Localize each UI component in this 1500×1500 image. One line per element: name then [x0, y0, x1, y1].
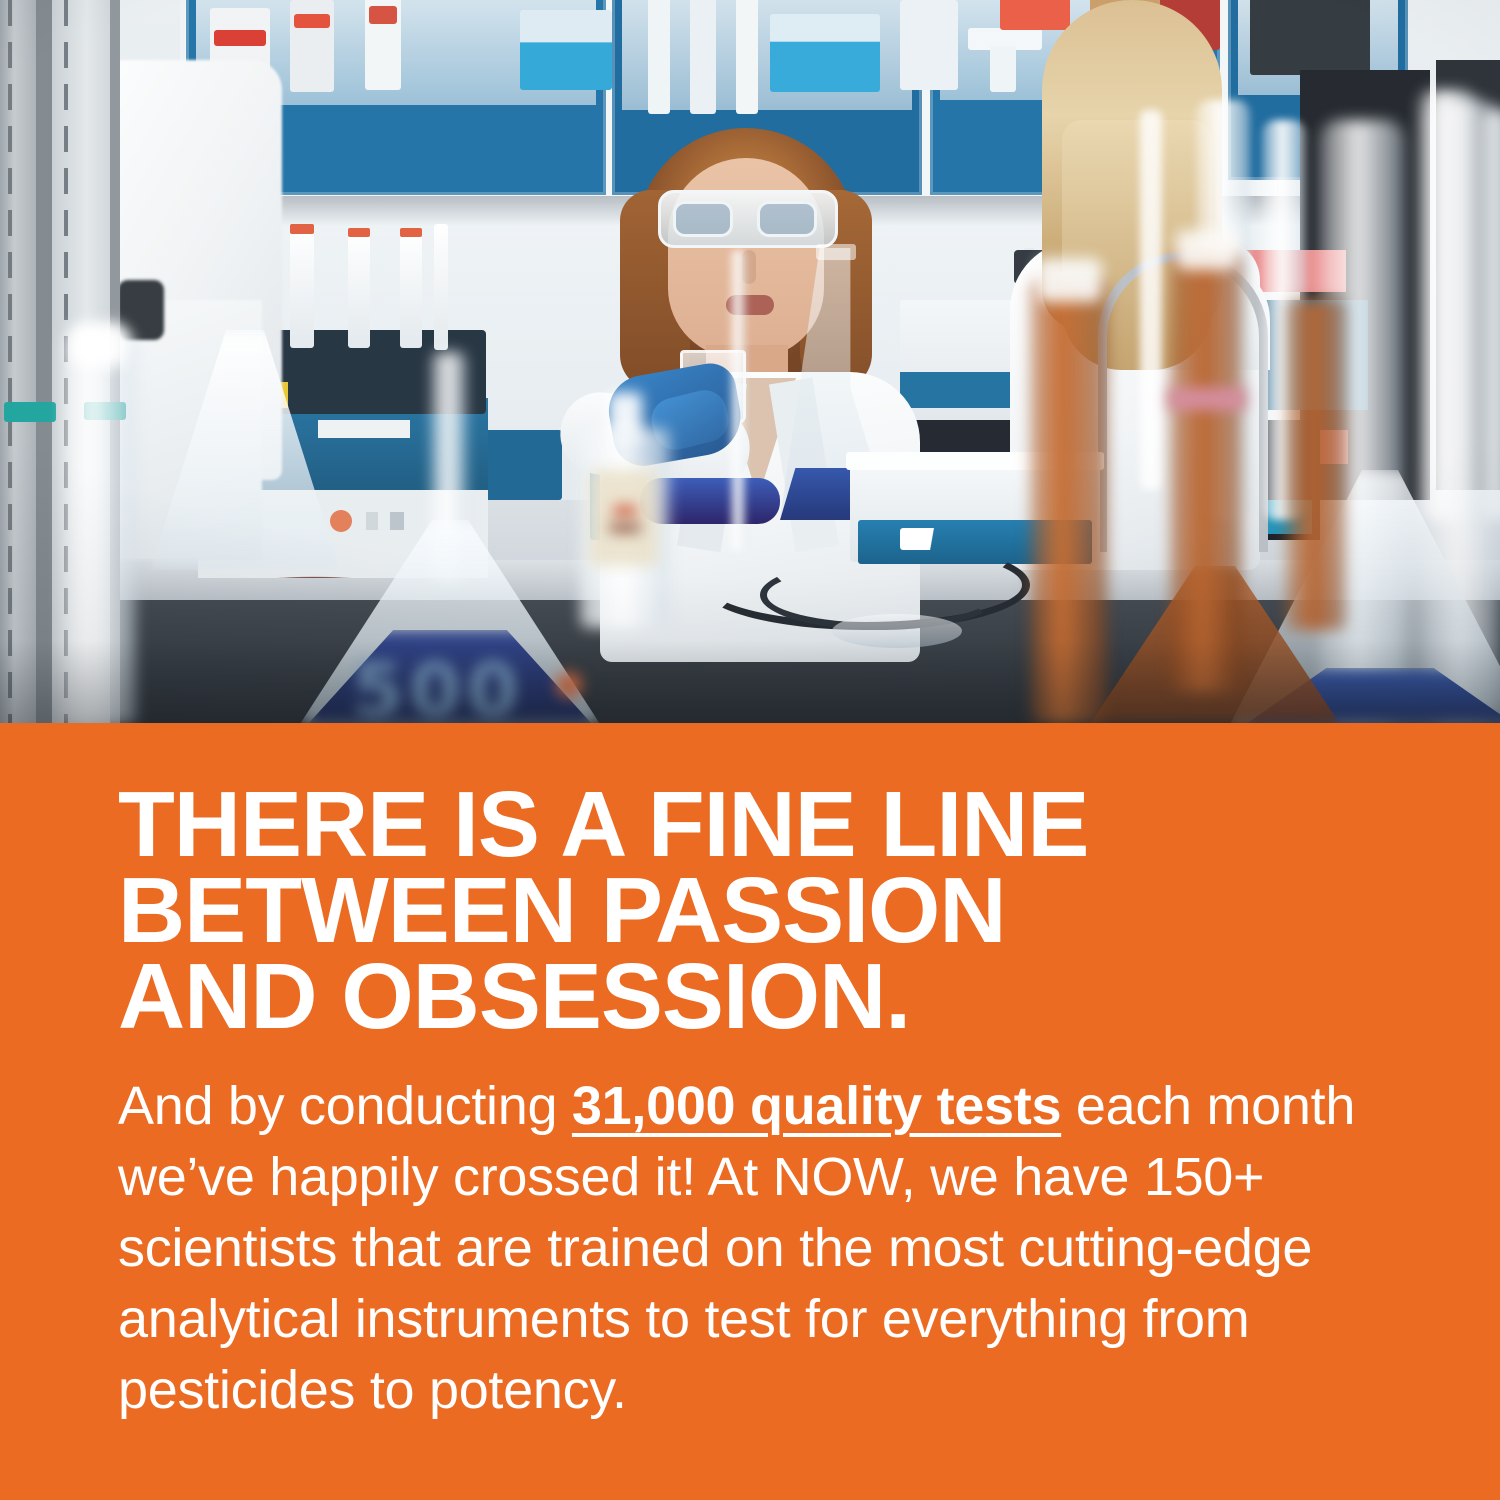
volumetric-flask-marking: 500	[352, 648, 552, 723]
amber-flask-stopper-1	[1036, 258, 1102, 302]
page-title: THERE IS A FINE LINE BETWEEN PASSION AND…	[118, 781, 1398, 1039]
reagent-bottle-neck	[608, 392, 642, 440]
left-instrument-display	[318, 420, 410, 438]
shelf-funnel	[990, 46, 1016, 92]
shelf-container-blue-2	[770, 14, 880, 92]
door-frame-shadow	[36, 0, 52, 723]
door-frame-dashes-1	[8, 0, 12, 723]
glass-rod-white	[1140, 110, 1162, 490]
orange-copy-panel: THERE IS A FINE LINE BETWEEN PASSION AND…	[0, 723, 1500, 1500]
reagent-bottle-warning-2	[610, 524, 640, 532]
safety-goggles-icon	[658, 190, 838, 248]
vial-cap-3	[400, 228, 422, 237]
sample-vial-4	[400, 232, 422, 348]
shelf-tube-1	[648, 0, 670, 114]
shelf-dark-equipment	[1250, 0, 1370, 75]
shelf-container-blue-1	[520, 10, 612, 90]
shelf-bottle-3-label	[369, 6, 397, 24]
goggles-lens-left	[673, 201, 733, 237]
left-instrument-knob-1	[330, 510, 352, 532]
foreground-cylinder-left-cap	[70, 322, 128, 368]
reagent-bottle-warning-1	[614, 506, 636, 516]
foreground-cylinder-left	[62, 330, 136, 723]
shelf-tube-3	[736, 0, 758, 114]
sample-vial-2	[290, 228, 314, 348]
foreground-pipette	[730, 250, 746, 550]
shelf-jar	[900, 0, 958, 90]
body-copy: And by conducting 31,000 quality tests e…	[118, 1071, 1388, 1426]
body-copy-before: And by conducting	[118, 1076, 572, 1136]
left-instrument-knob-3	[390, 512, 404, 530]
vial-cap-1	[290, 224, 314, 234]
lab-hero-photo: 500	[0, 0, 1500, 723]
amber-flask-stopper-2	[1176, 230, 1238, 270]
shelf-bottle-2-label	[294, 14, 330, 28]
amber-flask-label-band	[1168, 388, 1246, 410]
shelf-red-box	[1000, 0, 1070, 30]
shelf-tube-2	[690, 0, 716, 114]
amber-flask-neck-3	[1286, 300, 1346, 630]
erlenmeyer-flask-neck	[816, 244, 856, 260]
goggles-lens-right	[757, 201, 817, 237]
stat-quality-tests: 31,000 quality tests	[572, 1076, 1061, 1136]
amber-flask-neck-1	[1030, 280, 1108, 723]
vial-cap-2	[348, 228, 370, 237]
reagent-bottle-label	[590, 470, 658, 566]
watch-glass-dish	[832, 614, 962, 648]
left-instrument-knob-2	[366, 512, 378, 530]
volumetric-flask-dot	[556, 672, 582, 698]
sample-vial-3	[348, 232, 370, 348]
sample-vial-5	[434, 224, 448, 350]
marketing-hero-page: 500 THERE IS A FINE LINE BETWEEN PASSION…	[0, 0, 1500, 1500]
shelf-bottle-1-label	[214, 30, 266, 46]
door-frame-outer	[0, 0, 36, 723]
amber-flask-neck-2	[1170, 252, 1242, 692]
teal-label-band-1	[4, 402, 56, 422]
